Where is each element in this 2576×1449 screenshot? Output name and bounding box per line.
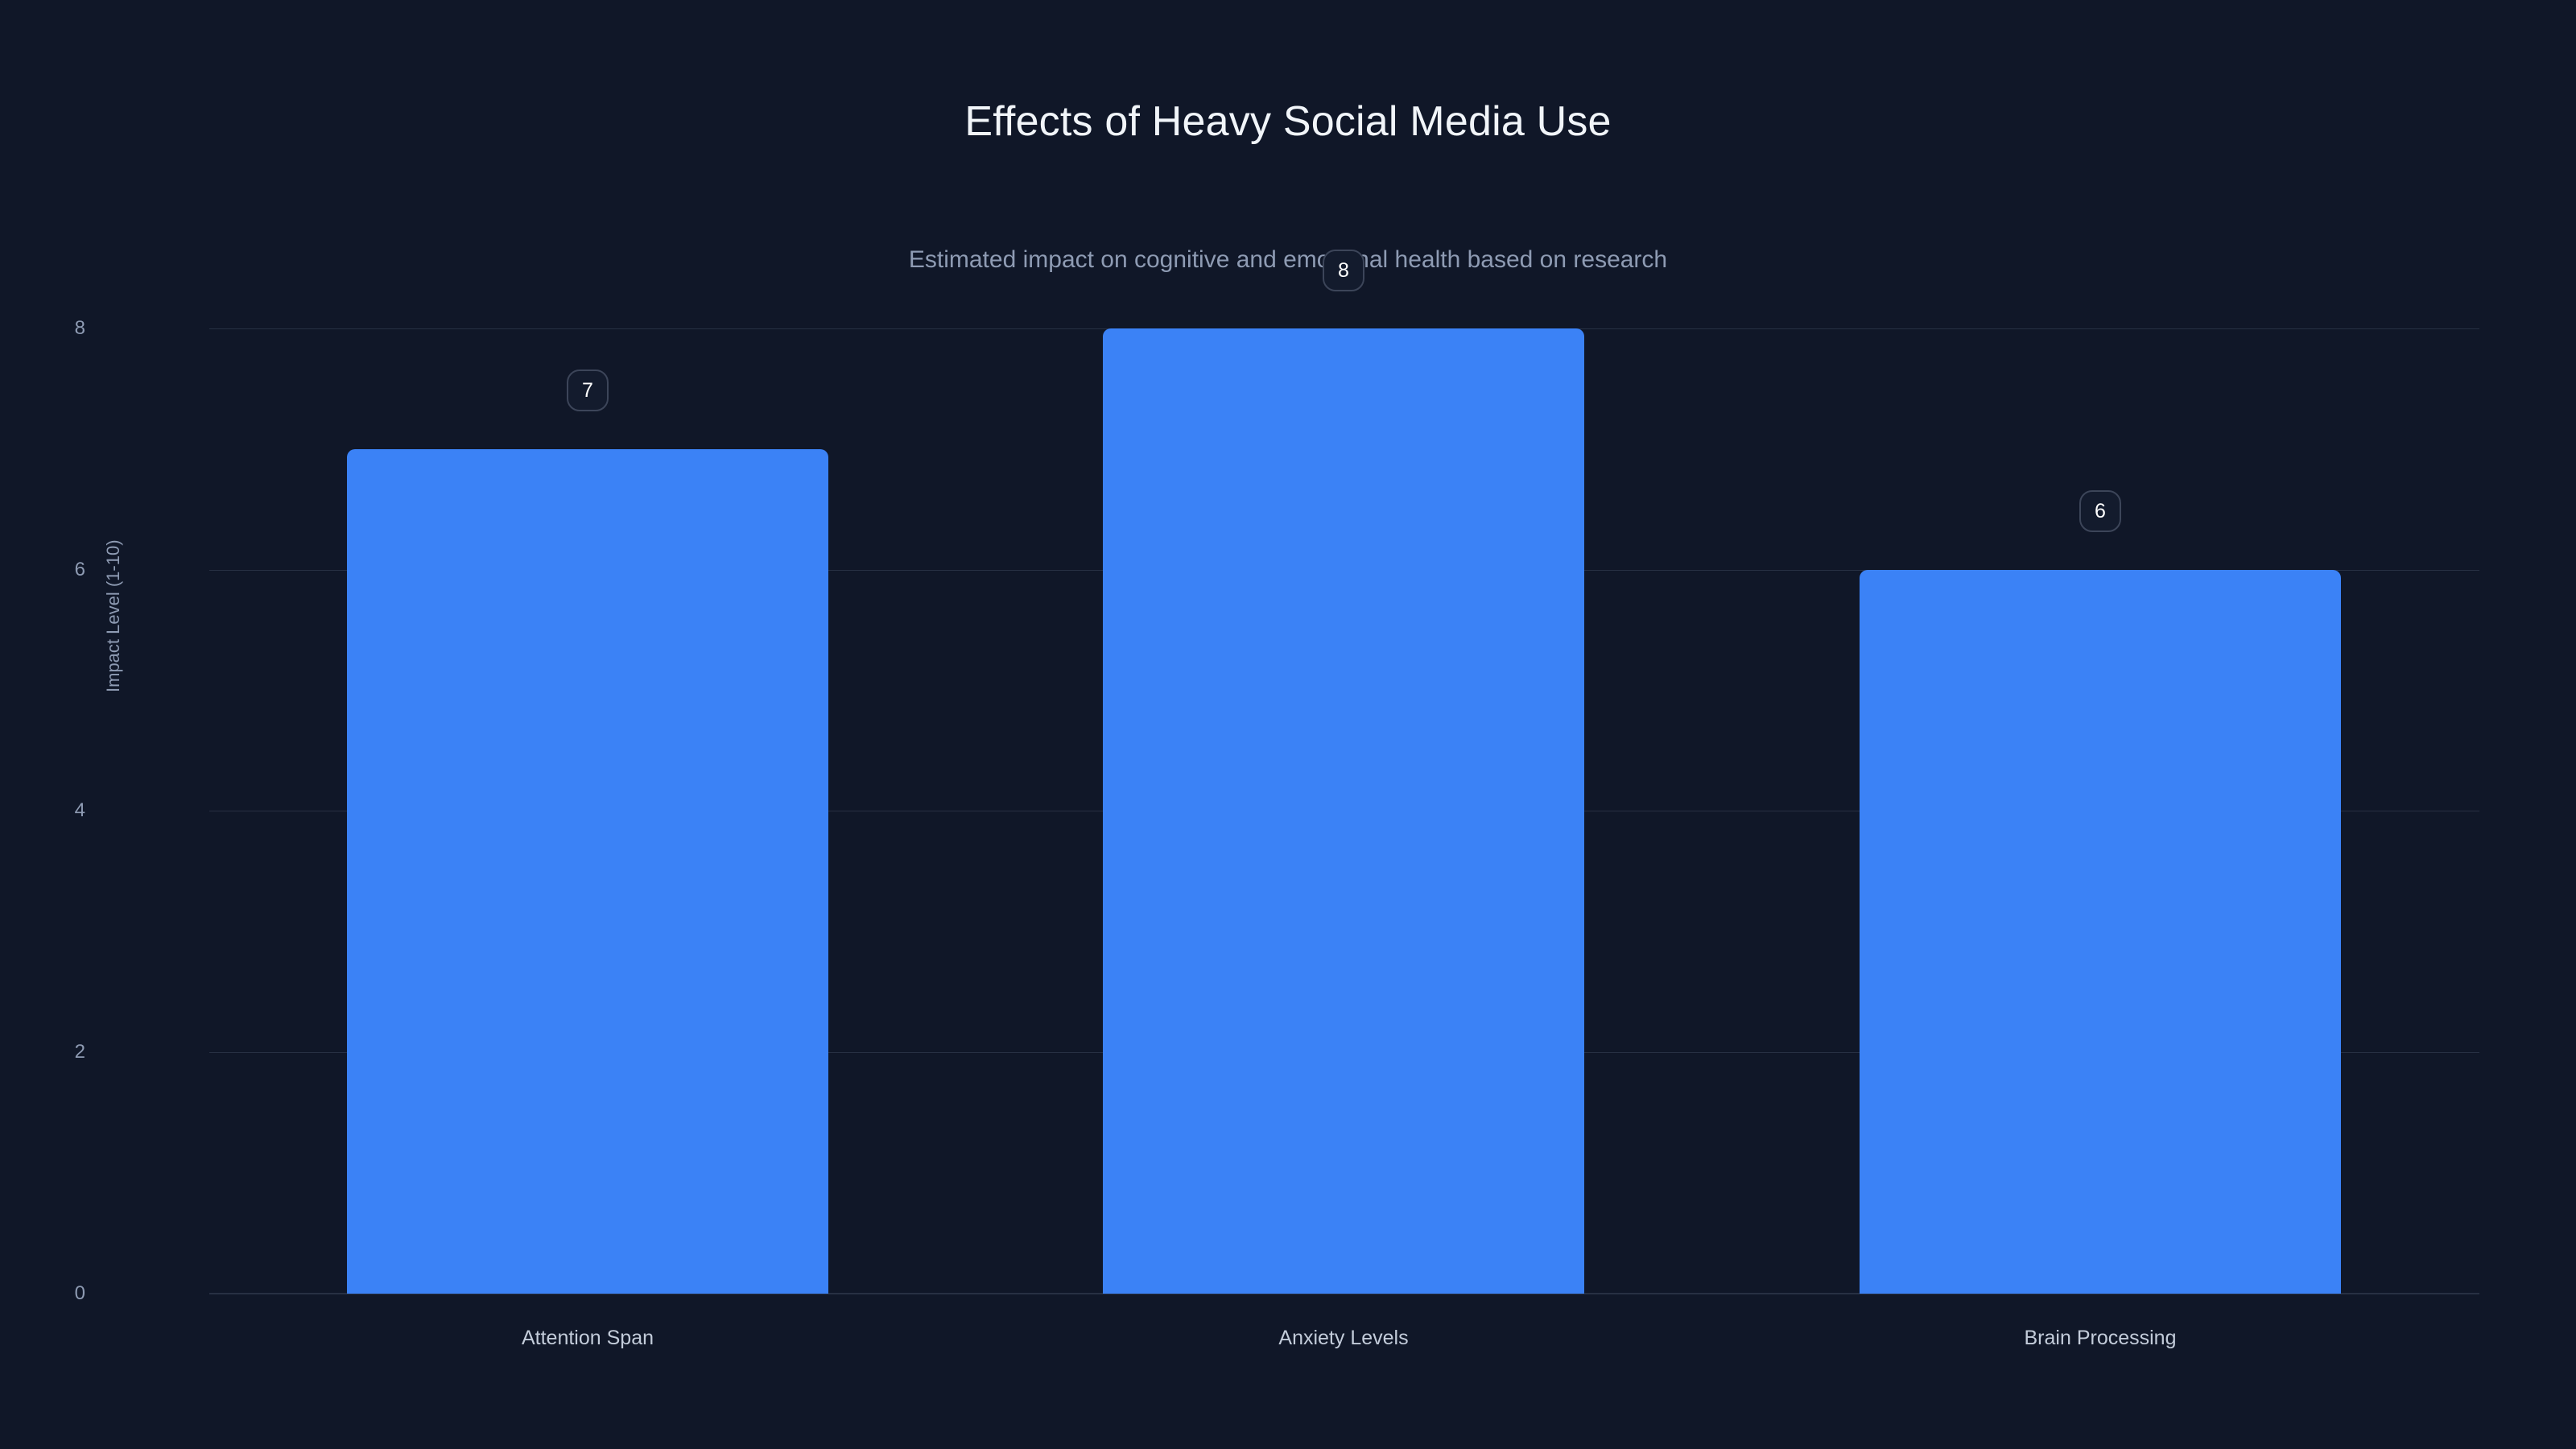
x-tick-label-attention-span: Attention Span xyxy=(522,1327,654,1350)
bar-anxiety-levels[interactable] xyxy=(1103,328,1584,1294)
y-tick-label-8: 8 xyxy=(37,317,85,340)
chart-title: Effects of Heavy Social Media Use xyxy=(0,97,2576,147)
x-tick-label-anxiety-levels: Anxiety Levels xyxy=(1278,1327,1408,1350)
y-tick-label-4: 4 xyxy=(37,799,85,822)
x-tick-label-brain-processing: Brain Processing xyxy=(2025,1327,2177,1350)
bar-chart-canvas: Effects of Heavy Social Media Use Estima… xyxy=(0,0,2576,1449)
value-badge-brain-processing: 6 xyxy=(2079,490,2121,532)
y-axis-title: Impact Level (1-10) xyxy=(103,539,124,692)
bar-brain-processing[interactable] xyxy=(1860,570,2341,1294)
bar-attention-span[interactable] xyxy=(347,449,828,1294)
y-tick-label-6: 6 xyxy=(37,559,85,581)
chart-subtitle: Estimated impact on cognitive and emotio… xyxy=(0,246,2576,275)
plot-area xyxy=(209,328,2479,1294)
value-badge-anxiety-levels: 8 xyxy=(1323,250,1364,291)
value-badge-attention-span: 7 xyxy=(567,369,609,411)
y-tick-label-2: 2 xyxy=(37,1041,85,1063)
y-tick-label-0: 0 xyxy=(37,1282,85,1305)
